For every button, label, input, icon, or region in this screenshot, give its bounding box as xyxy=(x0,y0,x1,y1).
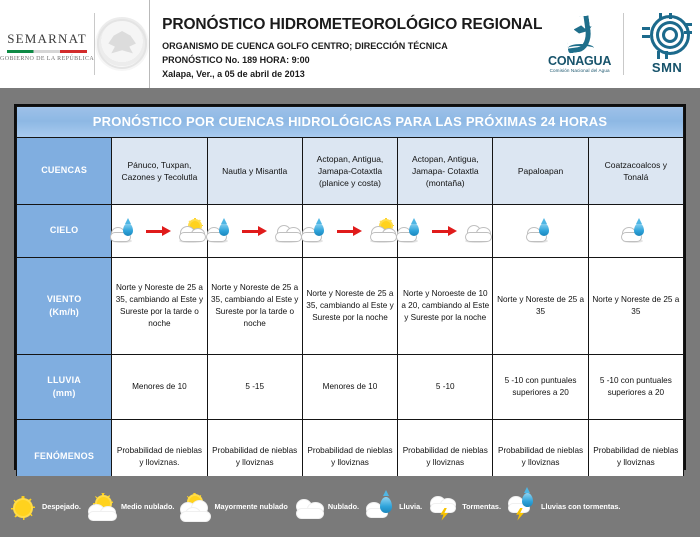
legend-item-tormentas: Tormentas. xyxy=(428,493,501,521)
viento-cell-1: Norte y Noreste de 25 a 35, cambiando al… xyxy=(112,258,207,355)
legend-label-tormentas: Tormentas. xyxy=(462,502,501,511)
conagua-subtitle: Comisión Nacional del Agua xyxy=(550,68,610,73)
legend-label-lluvia: Lluvia. xyxy=(399,502,422,511)
row-label-viento: VIENTO (Km/h) xyxy=(17,258,112,355)
transition-arrow-icon xyxy=(146,226,172,236)
viento-cell-4: Norte y Noroeste de 10 a 20, cambiando a… xyxy=(398,258,493,355)
viento-cell-2: Norte y Noreste de 25 a 35, cambiando al… xyxy=(207,258,302,355)
column-header-panuco: Pánuco, Tuxpan, Cazones y Tecolutla xyxy=(112,138,207,205)
table-banner: PRONÓSTICO POR CUENCAS HIDROLÓGICAS PARA… xyxy=(17,107,684,138)
cloud-rain-lightning-icon xyxy=(507,493,537,521)
row-label-lluvia-text: LLUVIA xyxy=(47,375,81,385)
cielo-cell-5 xyxy=(493,205,588,258)
conagua-water-bird-icon xyxy=(560,16,600,54)
sun-icon xyxy=(8,493,38,521)
cielo-cell-6 xyxy=(588,205,683,258)
table-row-viento: VIENTO (Km/h) Norte y Noreste de 25 a 35… xyxy=(17,258,684,355)
cloud-rain-icon xyxy=(394,218,428,244)
smn-name: SMN xyxy=(652,60,682,75)
cloud-icon xyxy=(462,218,496,244)
column-header-papaloapan: Papaloapan xyxy=(493,138,588,205)
viento-cell-5: Norte y Noreste de 25 a 35 xyxy=(493,258,588,355)
viento-cell-3: Norte y Noreste de 25 a 35, cambiando al… xyxy=(302,258,397,355)
row-label-viento-text: VIENTO xyxy=(47,294,82,304)
lluvia-cell-6: 5 -10 con puntuales superiores a 20 xyxy=(588,355,683,420)
legend-label-lluvias-con-tormentas: Lluvias con tormentas. xyxy=(541,502,620,511)
legend-item-mayormente-nublado: Mayormente nublado xyxy=(180,493,287,521)
table-row-lluvia: LLUVIA (mm) Menores de 10 5 -15 Menores … xyxy=(17,355,684,420)
cloud-lightning-icon xyxy=(428,493,458,521)
column-header-actopan-montana: Actopan, Antigua, Jamapa- Cotaxtla (mont… xyxy=(398,138,493,205)
cloud-rain-icon xyxy=(619,218,653,244)
header-title-block: PRONÓSTICO HIDROMETEOROLÓGICO REGIONAL O… xyxy=(149,0,542,88)
cloud-rain-icon xyxy=(204,218,238,244)
agency-logos: CONAGUA Comisión Nacional del Agua SMN xyxy=(542,0,700,88)
forecast-table: PRONÓSTICO POR CUENCAS HIDROLÓGICAS PARA… xyxy=(14,104,686,470)
column-header-actopan-planice: Actopan, Antigua, Jamapa-Cotaxtla (plani… xyxy=(302,138,397,205)
smn-spiral-icon xyxy=(641,13,693,61)
semarnat-subtitle: GOBIERNO DE LA REPÚBLICA xyxy=(0,56,94,62)
conagua-logo: CONAGUA Comisión Nacional del Agua xyxy=(542,16,617,73)
weather-legend: Despejado. Medio nublado. Mayormente nub… xyxy=(0,476,700,537)
legend-label-nublado: Nublado. xyxy=(328,502,359,511)
smn-logo: SMN xyxy=(630,13,700,75)
cielo-cell-4 xyxy=(398,205,493,258)
transition-arrow-icon xyxy=(242,226,268,236)
header-location-date: Xalapa, Ver., a 05 de abril de 2013 xyxy=(162,69,542,79)
mexican-coat-of-arms-icon xyxy=(95,0,149,88)
column-header-coatzacoalcos: Coatzacoalcos y Tonalá xyxy=(588,138,683,205)
cloud-icon xyxy=(294,493,324,521)
legend-item-nublado: Nublado. xyxy=(294,493,359,521)
cielo-cell-1 xyxy=(112,205,207,258)
transition-arrow-icon xyxy=(337,226,363,236)
legend-item-lluvia: Lluvia. xyxy=(365,493,422,521)
conagua-name: CONAGUA xyxy=(548,54,611,68)
lluvia-cell-2: 5 -15 xyxy=(207,355,302,420)
sun-behind-large-cloud-icon xyxy=(180,493,210,521)
legend-label-mayormente-nublado: Mayormente nublado xyxy=(214,502,287,511)
cloud-rain-icon xyxy=(524,218,558,244)
cielo-cell-3 xyxy=(302,205,397,258)
row-label-lluvia: LLUVIA (mm) xyxy=(17,355,112,420)
legend-item-despejado: Despejado. xyxy=(8,493,81,521)
row-label-cielo: CIELO xyxy=(17,205,112,258)
lluvia-cell-4: 5 -10 xyxy=(398,355,493,420)
header-divider-2 xyxy=(623,13,624,75)
lluvia-cell-3: Menores de 10 xyxy=(302,355,397,420)
page-header: SEMARNAT GOBIERNO DE LA REPÚBLICA PRONÓS… xyxy=(0,0,700,88)
cloud-rain-icon xyxy=(365,493,395,521)
row-label-viento-unit: (Km/h) xyxy=(20,306,108,319)
transition-arrow-icon xyxy=(432,226,458,236)
cielo-cell-2 xyxy=(207,205,302,258)
row-label-lluvia-unit: (mm) xyxy=(20,387,108,400)
row-label-cuencas: CUENCAS xyxy=(17,138,112,205)
semarnat-name: SEMARNAT xyxy=(7,31,87,47)
cloud-rain-icon xyxy=(299,218,333,244)
legend-label-despejado: Despejado. xyxy=(42,502,81,511)
legend-label-medio-nublado: Medio nublado. xyxy=(121,502,175,511)
legend-item-lluvias-con-tormentas: Lluvias con tormentas. xyxy=(507,493,620,521)
table-row-cielo: CIELO xyxy=(17,205,684,258)
table-banner-row: PRONÓSTICO POR CUENCAS HIDROLÓGICAS PARA… xyxy=(17,107,684,138)
lluvia-cell-5: 5 -10 con puntuales superiores a 20 xyxy=(493,355,588,420)
column-header-nautla: Nautla y Misantla xyxy=(207,138,302,205)
viento-cell-6: Norte y Noreste de 25 a 35 xyxy=(588,258,683,355)
header-forecast-number: PRONÓSTICO No. 189 HORA: 9:00 xyxy=(162,55,542,65)
cloud-rain-icon xyxy=(108,218,142,244)
page-title: PRONÓSTICO HIDROMETEOROLÓGICO REGIONAL xyxy=(162,16,542,34)
lluvia-cell-1: Menores de 10 xyxy=(112,355,207,420)
legend-item-medio-nublado: Medio nublado. xyxy=(87,493,175,521)
semarnat-logo: SEMARNAT GOBIERNO DE LA REPÚBLICA xyxy=(0,0,94,88)
sun-behind-cloud-icon xyxy=(87,493,117,521)
table-header-row: CUENCAS Pánuco, Tuxpan, Cazones y Tecolu… xyxy=(17,138,684,205)
mexican-flag-line-icon xyxy=(7,50,87,53)
header-subtitle-organism: ORGANISMO DE CUENCA GOLFO CENTRO; DIRECC… xyxy=(162,41,542,51)
